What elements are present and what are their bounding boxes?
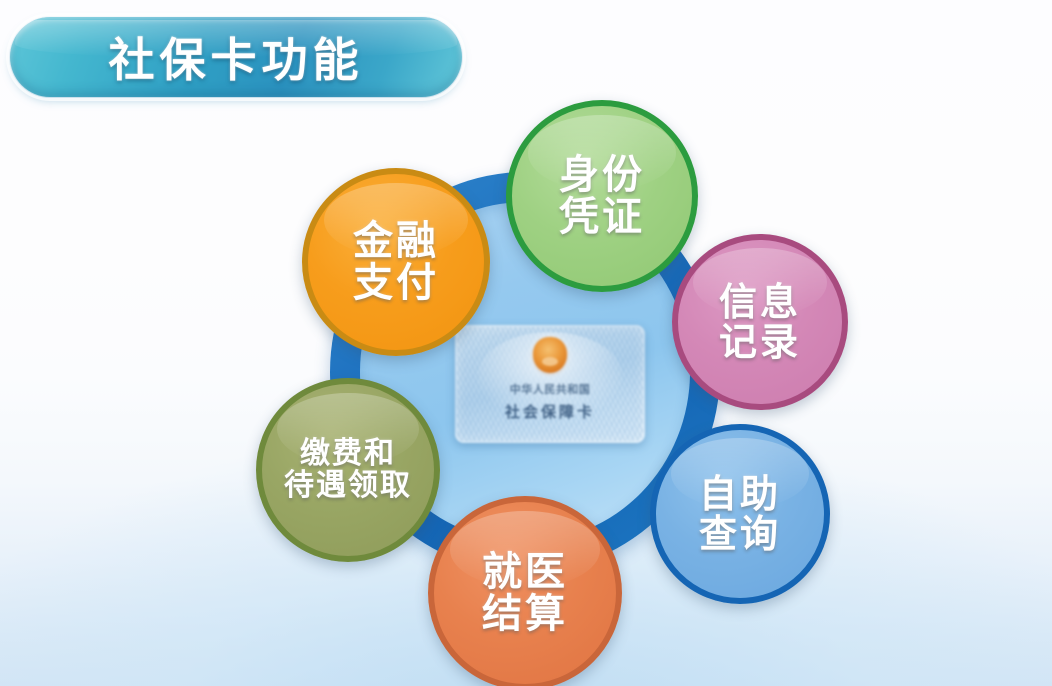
- feature-node-payment-and-benefits[interactable]: 缴费和待遇领取: [256, 378, 440, 562]
- feature-node-identity-label: 身份凭证: [553, 154, 651, 239]
- feature-node-payment-and-benefits-label: 缴费和待遇领取: [278, 438, 418, 502]
- feature-node-self-service-query-label: 自助查询: [693, 474, 787, 555]
- feature-node-info-record-label: 信息记录: [713, 282, 807, 363]
- social-security-card-image: 中华人民共和国 社会保障卡: [455, 325, 645, 443]
- feature-node-financial-payment[interactable]: 金融支付: [302, 168, 490, 356]
- card-country-text: 中华人民共和国: [455, 381, 645, 397]
- feature-node-medical-settlement-label: 就医结算: [476, 551, 574, 636]
- feature-node-self-service-query[interactable]: 自助查询: [650, 424, 830, 604]
- feature-node-medical-settlement[interactable]: 就医结算: [428, 496, 622, 686]
- feature-node-financial-payment-label: 金融支付: [347, 220, 445, 305]
- page-title: 社保卡功能: [109, 24, 364, 90]
- card-title-text: 社会保障卡: [455, 401, 645, 422]
- title-banner: 社保卡功能: [10, 17, 462, 97]
- national-emblem-icon: [533, 337, 567, 373]
- feature-node-identity[interactable]: 身份凭证: [506, 100, 698, 292]
- feature-node-info-record[interactable]: 信息记录: [672, 234, 848, 410]
- infographic-canvas: 社保卡功能 中华人民共和国 社会保障卡 身份凭证 信息记录 自助查询 就医结算 …: [0, 0, 1052, 686]
